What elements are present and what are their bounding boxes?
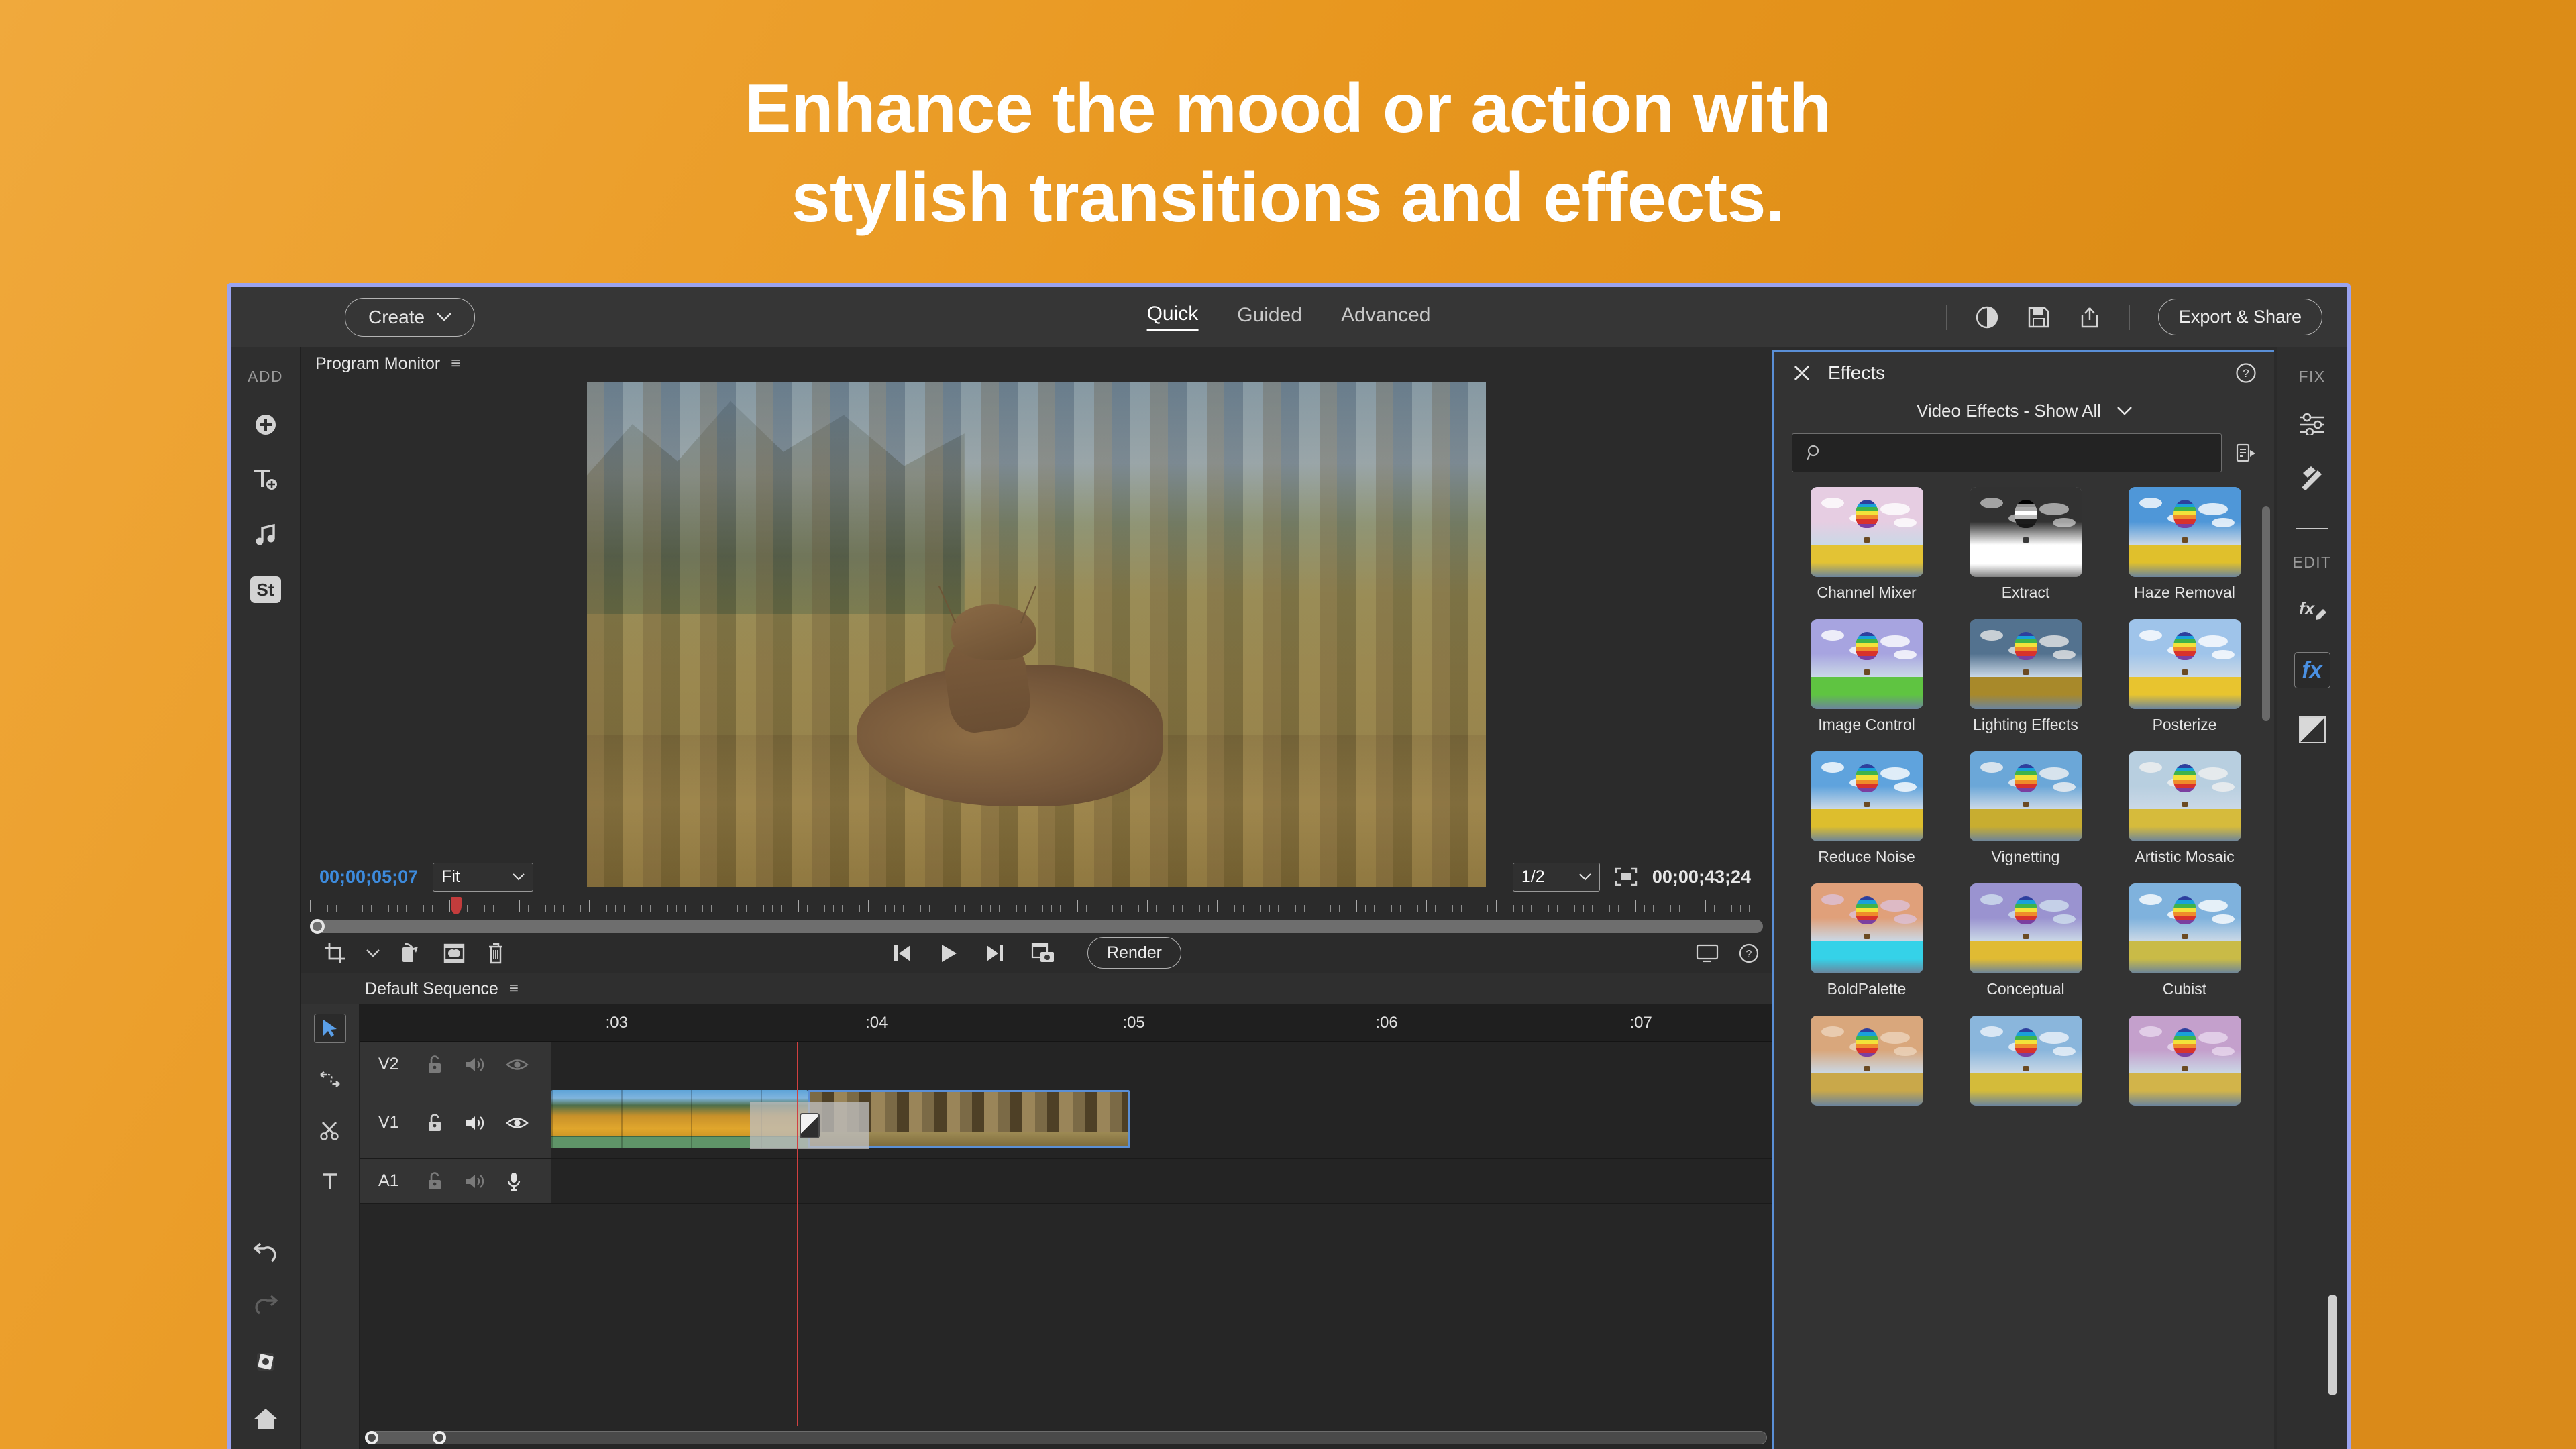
- application-window: Create Quick Guided Advanced: [227, 283, 2351, 1449]
- effect-label: Cubist: [2163, 980, 2206, 998]
- effect-cloud-layer: [2212, 518, 2235, 527]
- promo-headline: Enhance the mood or action with stylish …: [0, 64, 2576, 243]
- effect-cloud-layer: [1821, 630, 1844, 641]
- play-icon[interactable]: [938, 943, 959, 964]
- effect-balloon-basket: [1864, 1066, 1870, 1071]
- center-column: Program Monitor ≡ 00;00;05;07: [301, 347, 1772, 1449]
- top-right-actions: Export & Share: [1946, 299, 2322, 335]
- effects-panel: Effects ? Video Effects - Show All: [1772, 350, 2274, 1449]
- effect-cloud-layer: [2039, 1032, 2069, 1044]
- chevron-down-icon: [437, 313, 451, 321]
- transition-icon[interactable]: [443, 943, 466, 964]
- effect-field-layer: [2129, 545, 2241, 577]
- effect-field-layer: [1811, 677, 1923, 709]
- effect-cloud-layer: [2212, 914, 2235, 924]
- top-toolbar: Create Quick Guided Advanced: [231, 287, 2347, 347]
- effect-cloud-layer: [1980, 630, 2003, 641]
- effect-thumbnail[interactable]: [1811, 487, 1923, 577]
- effect-cloud-layer: [1980, 894, 2003, 905]
- search-icon: [1806, 444, 1823, 462]
- effect-cloud-layer: [2139, 1026, 2162, 1037]
- effect-label: Vignetting: [1992, 848, 2060, 866]
- effect-label: Artistic Mosaic: [2135, 848, 2234, 866]
- monitor-playhead[interactable]: [451, 897, 462, 914]
- effect-cloud-layer: [1880, 635, 1910, 647]
- effect-balloon-basket: [2023, 537, 2029, 543]
- sequence-menu-icon[interactable]: ≡: [509, 979, 519, 998]
- svg-text:fx: fx: [2299, 598, 2316, 619]
- effects-panel-header: Effects ?: [1774, 352, 2274, 394]
- effect-cloud-layer: [2053, 782, 2076, 792]
- scrollbar-left-handle[interactable]: [365, 1431, 378, 1444]
- split-tone-icon[interactable]: [2299, 716, 2326, 743]
- mic-icon[interactable]: [506, 1171, 522, 1192]
- add-media-icon[interactable]: [252, 411, 279, 438]
- effect-cloud-layer: [2053, 650, 2076, 659]
- effect-balloon-icon: [1856, 632, 1878, 660]
- eye-icon[interactable]: [506, 1057, 529, 1072]
- eye-icon[interactable]: [506, 1116, 529, 1130]
- effect-balloon-icon: [2173, 764, 2196, 792]
- track-a1: A1: [360, 1159, 1772, 1204]
- track-name-v1: V1: [378, 1113, 405, 1132]
- list-item[interactable]: Cubist: [2115, 883, 2254, 1009]
- organizer-icon[interactable]: [251, 1347, 280, 1377]
- effect-thumbnail[interactable]: [1970, 751, 2082, 841]
- undo-icon[interactable]: [252, 1242, 280, 1265]
- stickers-label: St: [250, 576, 281, 603]
- ruler-label: :06: [1375, 1014, 1397, 1032]
- program-monitor-title-bar: Program Monitor ≡: [301, 347, 1772, 380]
- effect-balloon-basket: [2023, 1066, 2029, 1071]
- transition-thumb-icon: [800, 1113, 820, 1138]
- effect-cloud-layer: [1821, 762, 1844, 773]
- effect-balloon-basket: [1864, 537, 1870, 543]
- headline-line-2: stylish transitions and effects.: [0, 154, 2576, 243]
- crop-icon[interactable]: [323, 942, 346, 965]
- effect-cloud-layer: [1980, 1026, 2003, 1037]
- search-input[interactable]: [1792, 433, 2222, 472]
- effect-cloud-layer: [2139, 630, 2162, 641]
- effect-thumbnail[interactable]: [1811, 751, 1923, 841]
- track-header-a1: A1: [360, 1159, 551, 1203]
- lock-icon[interactable]: [425, 1113, 444, 1133]
- tools-icon[interactable]: [2298, 464, 2327, 492]
- list-item[interactable]: Reduce Noise: [1797, 751, 1936, 877]
- effect-cloud-layer: [2198, 503, 2228, 515]
- effect-field-layer: [1811, 809, 1923, 841]
- effect-field-layer: [1811, 941, 1923, 973]
- list-item[interactable]: Posterize: [2115, 619, 2254, 745]
- video-trees-layer: [587, 382, 1486, 887]
- zoom-level-dropdown[interactable]: Fit: [433, 863, 533, 892]
- list-item[interactable]: [2115, 1016, 2254, 1123]
- effect-cloud-layer: [2212, 782, 2235, 792]
- effect-thumbnail[interactable]: [1970, 883, 2082, 973]
- effect-balloon-icon: [2173, 500, 2196, 528]
- current-timecode[interactable]: 00;00;05;07: [319, 867, 418, 888]
- effect-field-layer: [2129, 941, 2241, 973]
- selection-tool[interactable]: [314, 1014, 346, 1043]
- effects-grid: Channel MixerExtractHaze RemovalImage Co…: [1774, 487, 2274, 1449]
- effect-balloon-basket: [2182, 934, 2188, 939]
- window-body: ADD: [231, 347, 2347, 1449]
- track-header-v2: V2: [360, 1042, 551, 1087]
- effect-balloon-basket: [2023, 669, 2029, 675]
- adjustments-icon[interactable]: [2298, 411, 2327, 435]
- split-tone-swatch: [2299, 716, 2326, 743]
- track-select-tool[interactable]: [314, 1065, 346, 1094]
- lock-icon[interactable]: [425, 1055, 444, 1075]
- effect-cloud-layer: [1821, 1026, 1844, 1037]
- track-name-v2: V2: [378, 1055, 405, 1074]
- right-rail-edit-label: EDIT: [2293, 553, 2332, 572]
- mode-tabs: Quick Guided Advanced: [1147, 303, 1431, 331]
- effect-thumbnail[interactable]: [1970, 1016, 2082, 1106]
- program-monitor-area: [301, 380, 1772, 858]
- list-item[interactable]: Vignetting: [1956, 751, 2095, 877]
- effect-balloon-icon: [2173, 1028, 2196, 1057]
- help-icon[interactable]: ?: [2235, 362, 2257, 384]
- effect-cloud-layer: [2053, 1046, 2076, 1056]
- scrollbar-right-handle[interactable]: [433, 1431, 446, 1444]
- fx-icon-label: fx: [2294, 652, 2330, 688]
- effect-balloon-basket: [1864, 802, 1870, 807]
- effect-field-layer: [2129, 809, 2241, 841]
- monitor-ruler-ticks: [310, 900, 1763, 912]
- contrast-icon[interactable]: [1975, 305, 1999, 329]
- share-icon[interactable]: [2078, 306, 2101, 329]
- effect-cloud-layer: [2212, 650, 2235, 659]
- effect-cloud-layer: [2198, 767, 2228, 780]
- home-icon[interactable]: [252, 1406, 280, 1432]
- effect-field-layer: [1811, 1073, 1923, 1106]
- mute-icon[interactable]: [464, 1172, 486, 1191]
- program-monitor-title: Program Monitor: [315, 354, 440, 374]
- effect-cloud-layer: [2039, 767, 2069, 780]
- fit-frame-icon[interactable]: [1615, 867, 1638, 886]
- effect-cloud-layer: [2039, 900, 2069, 912]
- mute-icon[interactable]: [464, 1055, 486, 1074]
- effect-cloud-layer: [2139, 762, 2162, 773]
- delete-icon[interactable]: [486, 942, 506, 965]
- effect-label: Channel Mixer: [1817, 584, 1916, 602]
- ruler-label: :03: [606, 1014, 628, 1032]
- divider: [1946, 305, 1947, 330]
- step-forward-icon[interactable]: [984, 943, 1006, 963]
- list-item[interactable]: Channel Mixer: [1797, 487, 1936, 612]
- effect-cloud-layer: [1980, 762, 2003, 773]
- right-rail-scrollbar[interactable]: [2328, 1295, 2337, 1395]
- effect-field-layer: [2129, 1073, 2241, 1106]
- create-button[interactable]: Create: [345, 298, 475, 337]
- right-rail: FIX EDIT fx: [2277, 347, 2347, 1449]
- track-lane-v1[interactable]: [551, 1087, 1772, 1158]
- effect-cloud-layer: [2053, 914, 2076, 924]
- left-rail: ADD: [231, 347, 301, 1449]
- panel-menu-icon[interactable]: ≡: [451, 354, 460, 373]
- monitor-info-right: 1/2 00;00;43;24: [1513, 863, 1751, 892]
- list-item[interactable]: Conceptual: [1956, 883, 2095, 1009]
- list-item[interactable]: Artistic Mosaic: [2115, 751, 2254, 877]
- effect-thumbnail[interactable]: [1811, 883, 1923, 973]
- effect-cloud-layer: [1880, 767, 1910, 780]
- effect-cloud-layer: [2039, 635, 2069, 647]
- ruler-label: :05: [1122, 1014, 1144, 1032]
- headline-line-1: Enhance the mood or action with: [0, 64, 2576, 154]
- effect-cloud-layer: [1894, 782, 1917, 792]
- add-text-icon[interactable]: [252, 466, 280, 493]
- effect-balloon-basket: [1864, 934, 1870, 939]
- track-v2: V2: [360, 1042, 1772, 1087]
- effect-cloud-layer: [2198, 635, 2228, 647]
- effect-balloon-basket: [2182, 1066, 2188, 1071]
- effect-cloud-layer: [2039, 503, 2069, 515]
- help-icon[interactable]: ?: [1739, 943, 1759, 963]
- list-item[interactable]: [1956, 1016, 2095, 1123]
- effect-label: BoldPalette: [1827, 980, 1907, 998]
- add-music-icon[interactable]: [252, 521, 279, 548]
- left-rail-section-label: ADD: [248, 368, 283, 386]
- export-share-button[interactable]: Export & Share: [2158, 299, 2322, 335]
- effect-field-layer: [1970, 809, 2082, 841]
- effect-balloon-icon: [2015, 896, 2037, 924]
- effect-field-layer: [1811, 545, 1923, 577]
- monitor-scrub-bar[interactable]: [310, 920, 1763, 933]
- timeline-panel: Default Sequence ≡: [301, 973, 1772, 1449]
- close-icon[interactable]: [1792, 363, 1812, 383]
- redo-icon[interactable]: [252, 1295, 280, 1318]
- effect-cloud-layer: [2198, 1032, 2228, 1044]
- fx-pencil-icon[interactable]: fx: [2296, 597, 2328, 624]
- effect-cloud-layer: [1894, 650, 1917, 659]
- transport-controls: Render: [892, 937, 1181, 969]
- effect-label: Lighting Effects: [1973, 716, 2078, 734]
- mute-icon[interactable]: [464, 1114, 486, 1132]
- effect-cloud-layer: [1880, 1032, 1910, 1044]
- razor-tool[interactable]: [314, 1116, 346, 1145]
- effect-cloud-layer: [1894, 914, 1917, 924]
- add-stickers-icon[interactable]: St: [250, 576, 281, 603]
- effect-field-layer: [1970, 545, 2082, 577]
- tab-guided[interactable]: Guided: [1237, 304, 1302, 331]
- save-icon[interactable]: [2027, 306, 2050, 329]
- sequence-title: Default Sequence: [365, 979, 498, 999]
- effect-field-layer: [1970, 677, 2082, 709]
- effect-balloon-icon: [1856, 500, 1878, 528]
- left-rail-bottom: [231, 1242, 300, 1432]
- effect-balloon-icon: [2173, 632, 2196, 660]
- effect-cloud-layer: [1880, 900, 1910, 912]
- effect-thumbnail[interactable]: [2129, 751, 2241, 841]
- chevron-down-icon: [2117, 407, 2132, 415]
- effect-cloud-layer: [2198, 900, 2228, 912]
- type-tool[interactable]: [314, 1167, 346, 1196]
- timeline-playhead[interactable]: [797, 1042, 798, 1426]
- effect-balloon-icon: [2015, 764, 2037, 792]
- step-back-icon[interactable]: [892, 943, 913, 963]
- effect-cloud-layer: [2139, 894, 2162, 905]
- list-view-icon[interactable]: [2235, 442, 2257, 464]
- sequence-title-bar: Default Sequence ≡: [301, 973, 1772, 1004]
- transition-overlay[interactable]: [750, 1102, 869, 1149]
- effect-cloud-layer: [1894, 518, 1917, 527]
- svg-text:?: ?: [2243, 367, 2249, 380]
- effect-cloud-layer: [1821, 894, 1844, 905]
- rotate-icon[interactable]: [400, 942, 423, 965]
- effect-label: Reduce Noise: [1818, 848, 1915, 866]
- effects-category-value: Video Effects - Show All: [1917, 400, 2101, 421]
- effect-thumbnail[interactable]: [1970, 487, 2082, 577]
- effect-balloon-basket: [1864, 669, 1870, 675]
- track-lane-v2[interactable]: [551, 1042, 1772, 1087]
- effect-field-layer: [1970, 1073, 2082, 1106]
- effect-label: Extract: [2002, 584, 2050, 602]
- playback-resolution-dropdown[interactable]: 1/2: [1513, 863, 1600, 892]
- right-rail-fix-label: FIX: [2299, 368, 2326, 386]
- scrollbar-track[interactable]: [365, 1431, 1767, 1444]
- effect-label: Conceptual: [1986, 980, 2064, 998]
- monitor-left-tools: [323, 942, 506, 965]
- effect-cloud-layer: [2053, 518, 2076, 527]
- rail-divider: [2296, 528, 2328, 529]
- effect-balloon-icon: [2015, 1028, 2037, 1057]
- monitor-right-tools: ?: [1696, 943, 1759, 963]
- list-item[interactable]: [1797, 1016, 1936, 1123]
- svg-text:?: ?: [1746, 949, 1752, 960]
- list-item[interactable]: Image Control: [1797, 619, 1936, 745]
- timeline-horizontal-scrollbar[interactable]: [360, 1426, 1772, 1449]
- playback-resolution-value: 1/2: [1521, 867, 1545, 887]
- list-item[interactable]: Lighting Effects: [1956, 619, 2095, 745]
- monitor-info-row: 00;00;05;07 Fit 1/2: [301, 858, 1772, 896]
- timeline-main: :03 :04 :05 :06 :07 V2: [360, 1004, 1772, 1449]
- effect-thumbnail[interactable]: [2129, 1016, 2241, 1106]
- effect-thumbnail[interactable]: [2129, 619, 2241, 709]
- effect-field-layer: [1970, 941, 2082, 973]
- effect-field-layer: [2129, 677, 2241, 709]
- effect-balloon-icon: [1856, 896, 1878, 924]
- list-item[interactable]: BoldPalette: [1797, 883, 1936, 1009]
- divider: [2129, 305, 2130, 330]
- effects-category-dropdown[interactable]: Video Effects - Show All: [1774, 394, 2274, 433]
- effect-cloud-layer: [1821, 498, 1844, 508]
- freeze-frame-icon[interactable]: [1031, 943, 1055, 964]
- effect-thumbnail[interactable]: [1811, 619, 1923, 709]
- monitor-transport-row: Render ?: [301, 933, 1772, 973]
- track-v1: V1: [360, 1087, 1772, 1159]
- chevron-down-icon[interactable]: [366, 949, 380, 957]
- effects-panel-title: Effects: [1828, 362, 1885, 384]
- effect-cloud-layer: [2212, 1046, 2235, 1056]
- timeline-ruler[interactable]: :03 :04 :05 :06 :07: [360, 1004, 1772, 1042]
- effects-search-row: [1774, 433, 2274, 487]
- fx-icon[interactable]: fx: [2294, 652, 2330, 688]
- tab-advanced[interactable]: Advanced: [1341, 304, 1430, 331]
- track-lane-a1[interactable]: [551, 1159, 1772, 1203]
- effect-balloon-basket: [2023, 802, 2029, 807]
- tab-quick[interactable]: Quick: [1147, 303, 1199, 331]
- effect-balloon-basket: [2182, 537, 2188, 543]
- effect-cloud-layer: [1980, 498, 2003, 508]
- render-button[interactable]: Render: [1087, 937, 1181, 969]
- list-item[interactable]: Extract: [1956, 487, 2095, 612]
- effect-balloon-icon: [1856, 764, 1878, 792]
- chevron-down-icon: [513, 873, 525, 881]
- effect-balloon-basket: [2182, 802, 2188, 807]
- timeline-body: :03 :04 :05 :06 :07 V2: [301, 1004, 1772, 1449]
- effect-thumbnail[interactable]: [2129, 487, 2241, 577]
- effect-thumbnail[interactable]: [2129, 883, 2241, 973]
- effects-vertical-scrollbar[interactable]: [2262, 506, 2270, 721]
- ruler-label: :07: [1629, 1014, 1652, 1032]
- effect-label: Image Control: [1818, 716, 1915, 734]
- timeline-tools: [301, 1004, 360, 1449]
- duration-timecode: 00;00;43;24: [1652, 867, 1751, 888]
- effect-balloon-icon: [2015, 500, 2037, 528]
- track-name-a1: A1: [378, 1171, 405, 1191]
- timeline-tracks: V2: [360, 1042, 1772, 1426]
- effect-cloud-layer: [2139, 498, 2162, 508]
- chevron-down-icon: [1579, 873, 1591, 881]
- monitor-ruler[interactable]: [301, 896, 1772, 918]
- lock-icon[interactable]: [425, 1171, 444, 1191]
- effect-cloud-layer: [1880, 503, 1910, 515]
- effect-label: Haze Removal: [2134, 584, 2235, 602]
- effect-balloon-icon: [1856, 1028, 1878, 1057]
- zoom-level-value: Fit: [441, 867, 460, 887]
- list-item[interactable]: Haze Removal: [2115, 487, 2254, 612]
- effect-balloon-icon: [2173, 896, 2196, 924]
- video-preview[interactable]: [587, 382, 1486, 887]
- effect-thumbnail[interactable]: [1970, 619, 2082, 709]
- create-button-label: Create: [368, 307, 425, 328]
- effect-balloon-icon: [2015, 632, 2037, 660]
- effect-thumbnail[interactable]: [1811, 1016, 1923, 1106]
- effect-balloon-basket: [2023, 934, 2029, 939]
- ruler-label: :04: [865, 1014, 888, 1032]
- effect-label: Posterize: [2153, 716, 2217, 734]
- track-header-v1: V1: [360, 1087, 551, 1158]
- display-icon[interactable]: [1696, 944, 1719, 963]
- effect-balloon-basket: [2182, 669, 2188, 675]
- effect-cloud-layer: [1894, 1046, 1917, 1056]
- scrub-handle[interactable]: [310, 919, 325, 934]
